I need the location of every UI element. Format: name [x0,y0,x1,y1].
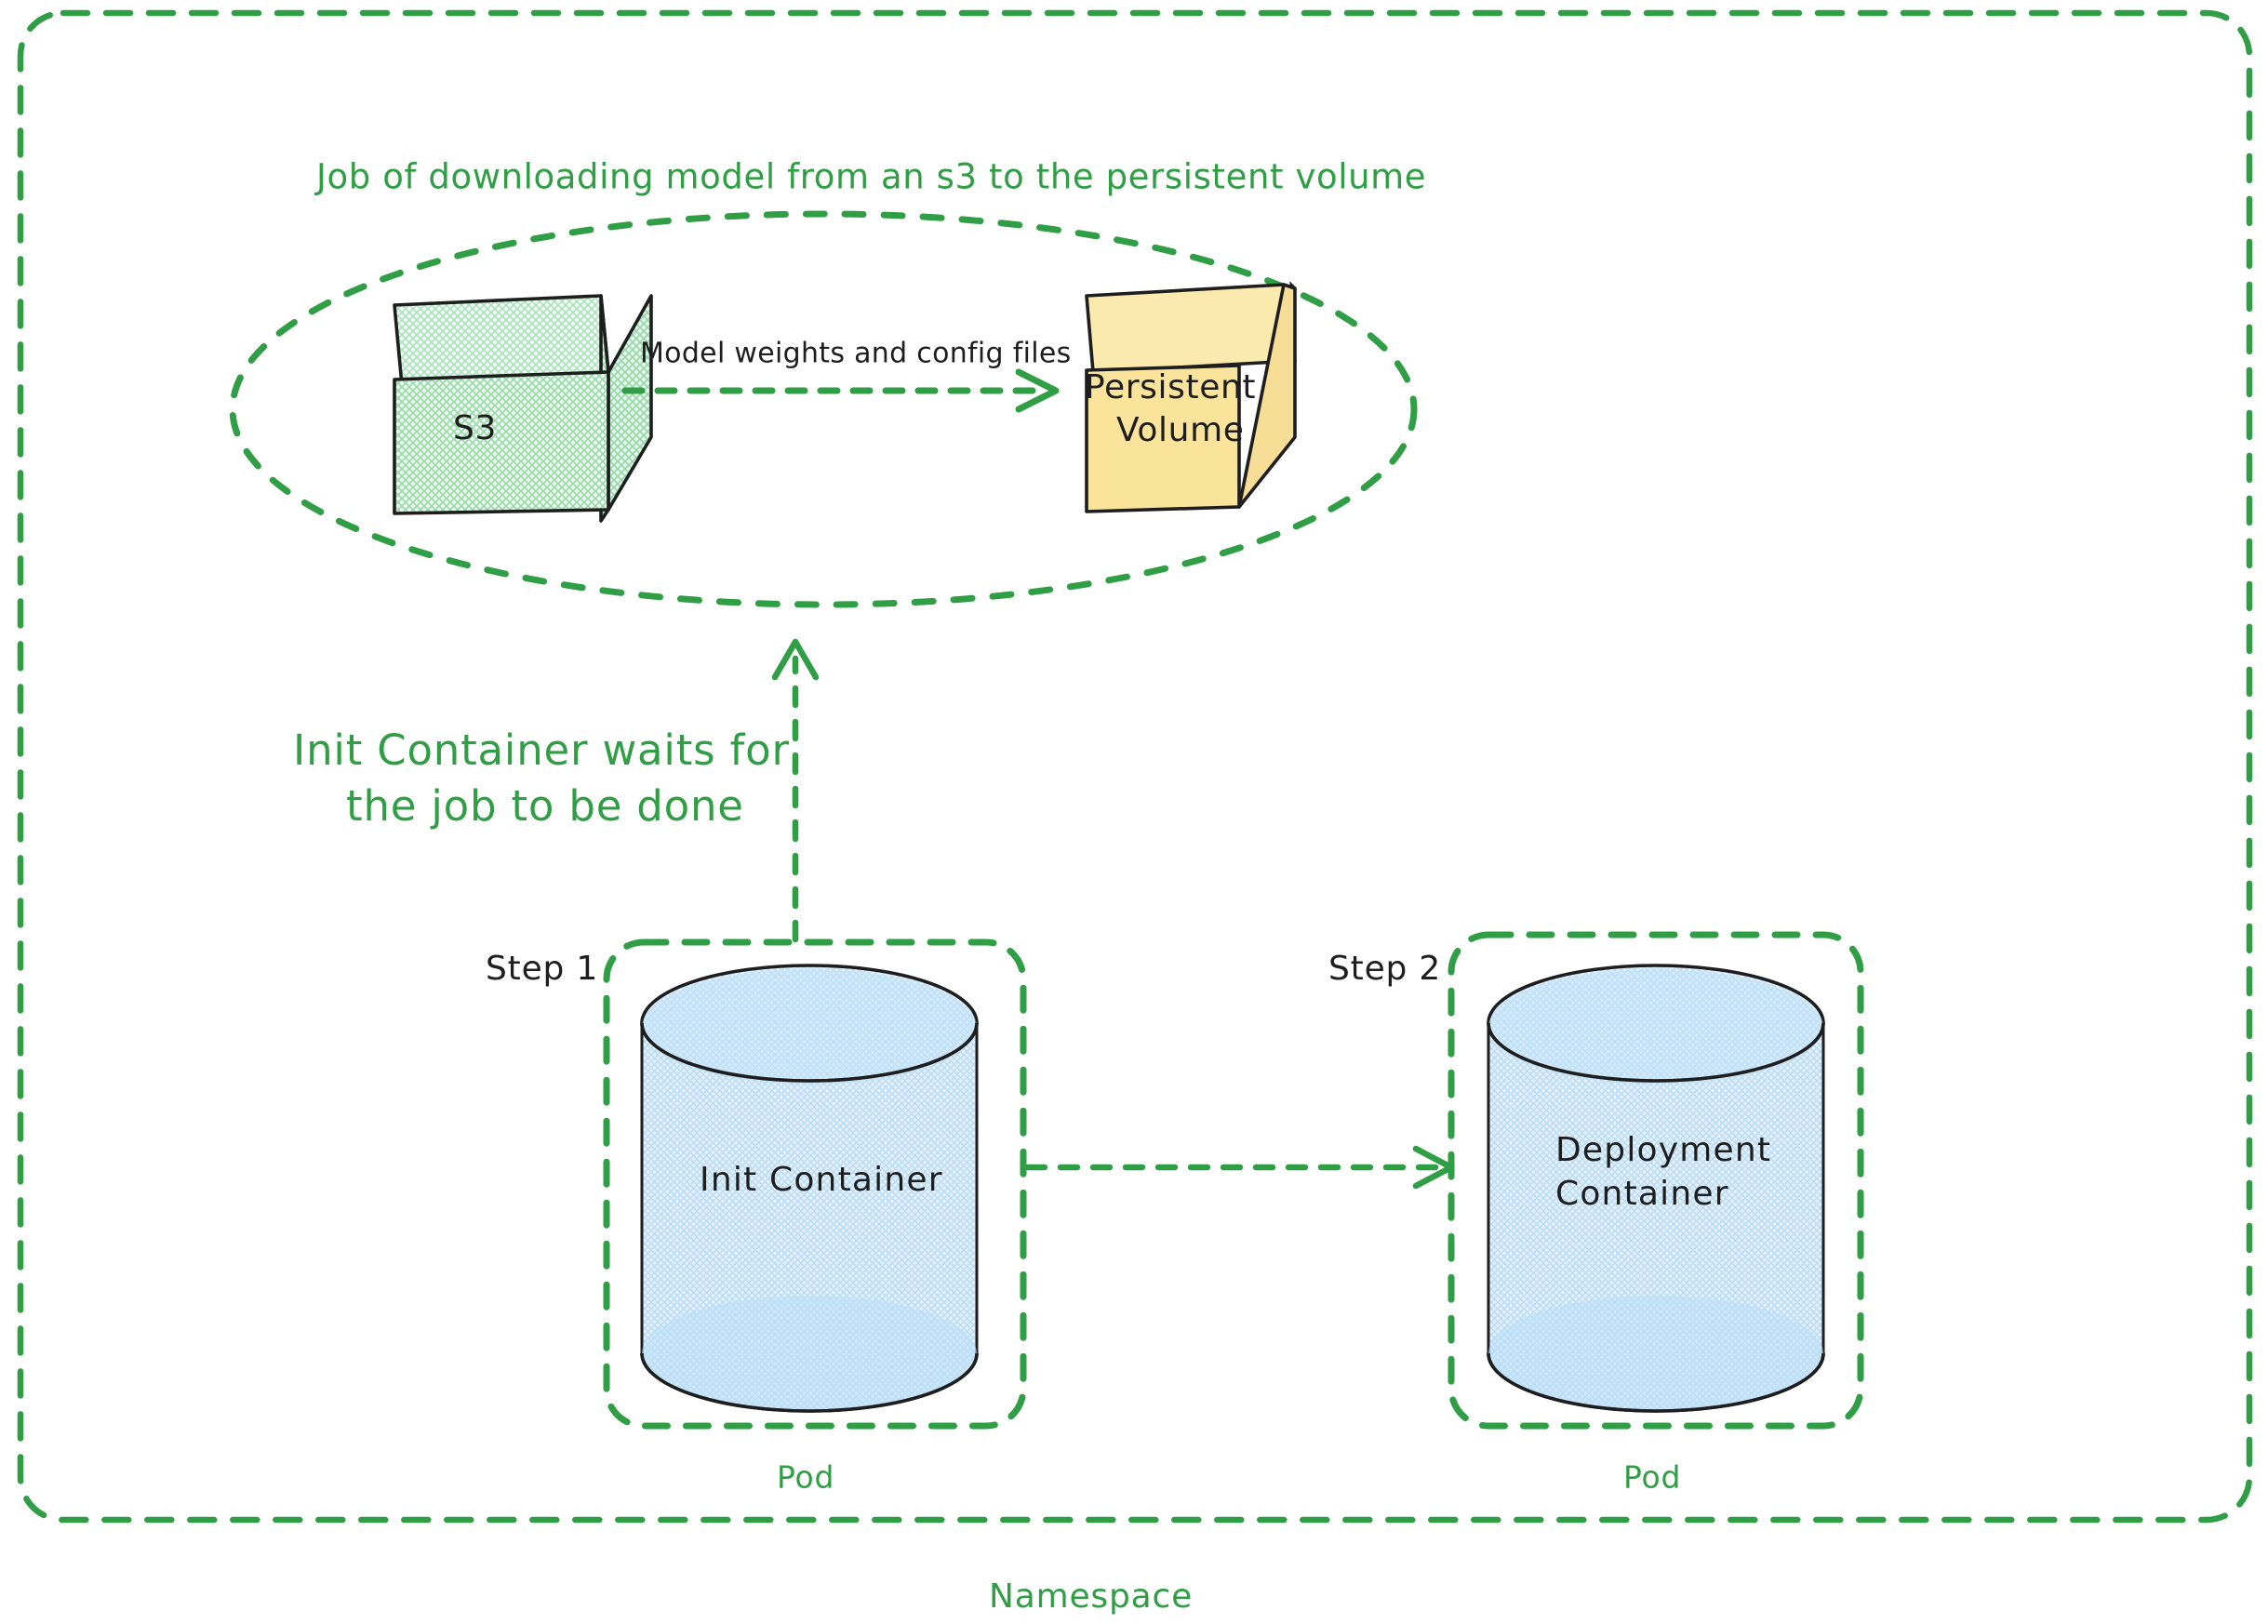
pod-2-step-label: Step 2 [1328,950,1441,988]
step-transition-arrow [1028,1149,1451,1186]
model-transfer-label: Model weights and config files [640,338,1072,370]
init-cylinder-top-shade [642,969,977,1085]
pod-2-label: Pod [1623,1459,1681,1496]
deployment-container-cylinder: Deployment Container [1488,965,1823,1411]
pod-1-label: Pod [777,1459,834,1496]
diagram-canvas: Job of downloading model from an s3 to t… [0,0,2268,1624]
init-wait-annotation: Init Container waits for the job to be d… [293,642,816,939]
job-group: Job of downloading model from an s3 to t… [233,157,1426,606]
model-transfer-arrow: Model weights and config files [625,338,1072,410]
pv-cube-top-face [1087,285,1295,372]
pod-1-step-label: Step 1 [486,950,598,988]
pod-2: Step 2 Deployment Container Pod [1328,935,1861,1496]
architecture-diagram: Job of downloading model from an s3 to t… [0,0,2268,1624]
pv-cube-label-line1: Persistent [1085,368,1256,406]
s3-cube-right-face [608,296,651,510]
s3-cube-label: S3 [453,409,497,447]
pod-1: Step 1 Init Container Pod [486,942,1023,1496]
namespace-label: Namespace [989,1577,1193,1616]
persistent-volume-cube: Persistent Volume [1085,285,1295,512]
s3-cube: S3 [394,296,651,521]
init-container-label: Init Container [700,1161,943,1199]
s3-cube-front-face [394,372,608,513]
deployment-container-label-line2: Container [1555,1175,1729,1213]
job-title-label: Job of downloading model from an s3 to t… [314,157,1426,197]
init-wait-label-line1: Init Container waits for [293,725,790,775]
init-wait-label-line2: the job to be done [346,781,744,831]
init-container-cylinder: Init Container [642,965,977,1411]
deploy-cylinder-top-shade [1488,969,1823,1085]
deployment-container-label-line1: Deployment [1555,1131,1771,1169]
pv-cube-label-line2: Volume [1116,411,1245,449]
